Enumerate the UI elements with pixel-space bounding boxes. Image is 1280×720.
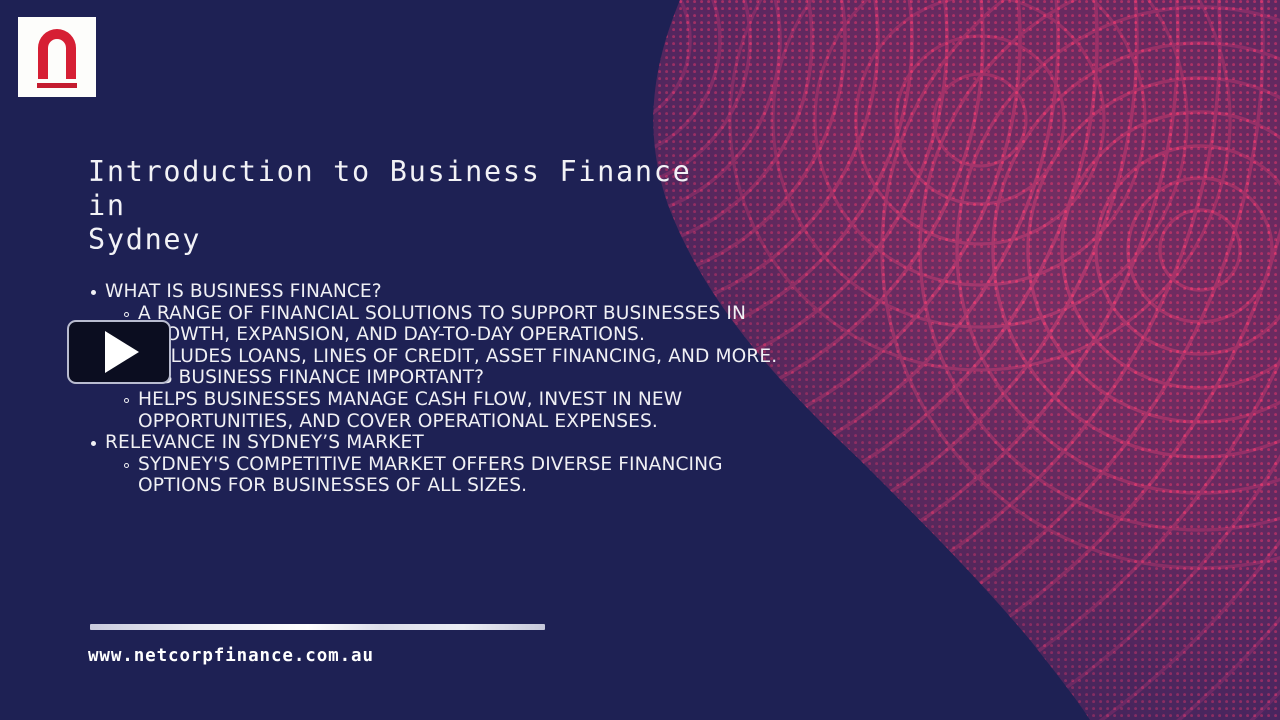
- list-item: HELPS BUSINESSES MANAGE CASH FLOW, INVES…: [121, 389, 808, 432]
- brand-logo: [18, 17, 96, 97]
- slide-body-list: WHAT IS BUSINESS FINANCE? A RANGE OF FIN…: [88, 281, 808, 497]
- footer-divider: [90, 624, 545, 630]
- list-item: INCLUDES LOANS, LINES OF CREDIT, ASSET F…: [121, 346, 808, 368]
- list-item: WHY IS BUSINESS FINANCE IMPORTANT?: [88, 367, 808, 389]
- logo-n-icon: [18, 17, 96, 97]
- presentation-slide: Introduction to Business Finance in Sydn…: [0, 0, 1280, 720]
- list-item: RELEVANCE IN SYDNEY’S MARKET: [88, 432, 808, 454]
- list-item: WHAT IS BUSINESS FINANCE?: [88, 281, 808, 303]
- list-item: A RANGE OF FINANCIAL SOLUTIONS TO SUPPOR…: [121, 303, 808, 346]
- list-item: SYDNEY'S COMPETITIVE MARKET OFFERS DIVER…: [121, 454, 808, 497]
- play-button[interactable]: [67, 320, 171, 384]
- page-title: Introduction to Business Finance in Sydn…: [88, 155, 728, 257]
- footer-website-url: www.netcorpfinance.com.au: [88, 646, 374, 666]
- play-icon: [105, 331, 139, 373]
